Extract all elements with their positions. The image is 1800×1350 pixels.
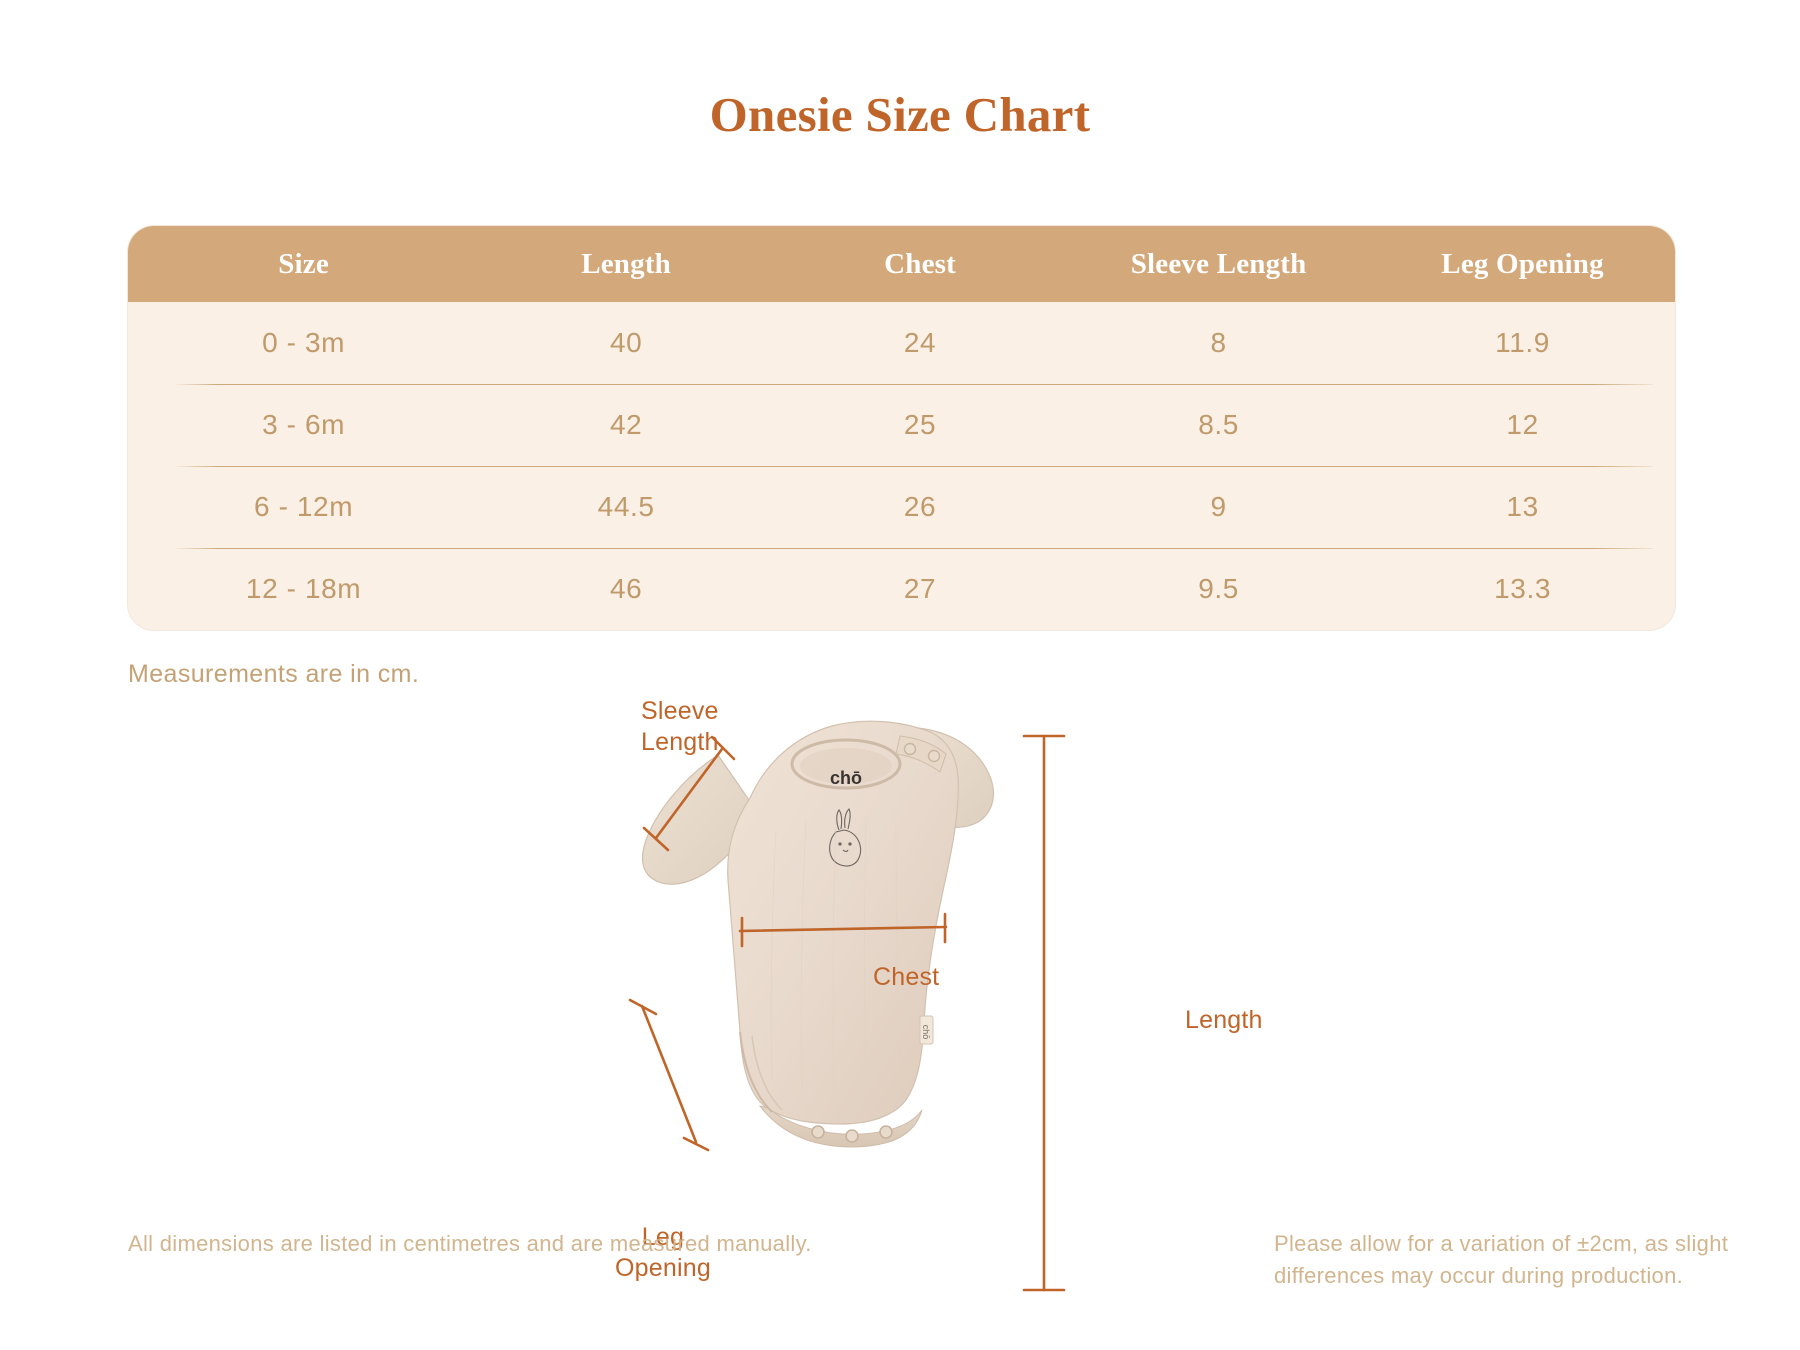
column-header-length: Length [479,248,773,281]
crotch-snap-3 [880,1126,892,1138]
table-row: 3 - 6m 42 25 8.5 12 [128,384,1675,466]
cell-length: 44.5 [479,491,773,523]
cell-chest: 25 [773,409,1067,441]
cell-size: 12 - 18m [128,573,479,605]
side-hem-tag-text: chō [921,1025,931,1040]
footer-note-right: Please allow for a variation of ±2cm, as… [1274,1228,1800,1292]
table-body: 0 - 3m 40 24 8 11.9 3 - 6m 42 25 8.5 12 … [128,302,1675,630]
shoulder-snap-1 [905,744,916,755]
cell-length: 40 [479,327,773,359]
label-sleeve-length: Sleeve Length [641,696,719,757]
cell-leg: 11.9 [1370,327,1675,359]
table-header-row: Size Length Chest Sleeve Length Leg Open… [128,226,1675,302]
crotch-snap-2 [846,1130,858,1142]
cell-length: 42 [479,409,773,441]
footer-note-left: All dimensions are listed in centimetres… [128,1228,812,1260]
cell-sleeve: 9 [1067,491,1370,523]
cell-leg: 13 [1370,491,1675,523]
cell-chest: 26 [773,491,1067,523]
column-header-size: Size [128,248,479,281]
shoulder-snap-2 [929,751,940,762]
column-header-chest: Chest [773,248,1067,281]
table-row: 0 - 3m 40 24 8 11.9 [128,302,1675,384]
cell-sleeve: 8 [1067,327,1370,359]
size-chart-table: Size Length Chest Sleeve Length Leg Open… [128,226,1675,630]
cell-sleeve: 8.5 [1067,409,1370,441]
table-row: 12 - 18m 46 27 9.5 13.3 [128,548,1675,630]
cell-length: 46 [479,573,773,605]
leg-opening-dimension [630,1000,708,1150]
cell-leg: 12 [1370,409,1675,441]
cell-size: 3 - 6m [128,409,479,441]
table-row: 6 - 12m 44.5 26 9 13 [128,466,1675,548]
column-header-leg-opening: Leg Opening [1370,248,1675,281]
cell-size: 0 - 3m [128,327,479,359]
length-dimension [1024,736,1064,1290]
label-chest: Chest [873,962,939,993]
cell-chest: 24 [773,327,1067,359]
cell-sleeve: 9.5 [1067,573,1370,605]
page-title: Onesie Size Chart [0,86,1800,143]
crotch-snap-1 [812,1126,824,1138]
label-length: Length [1185,1005,1263,1036]
cell-size: 6 - 12m [128,491,479,523]
column-header-sleeve-length: Sleeve Length [1067,248,1370,281]
cell-chest: 27 [773,573,1067,605]
cell-leg: 13.3 [1370,573,1675,605]
brand-neck-label: chō [830,768,862,788]
measurement-unit-note: Measurements are in cm. [128,660,419,689]
